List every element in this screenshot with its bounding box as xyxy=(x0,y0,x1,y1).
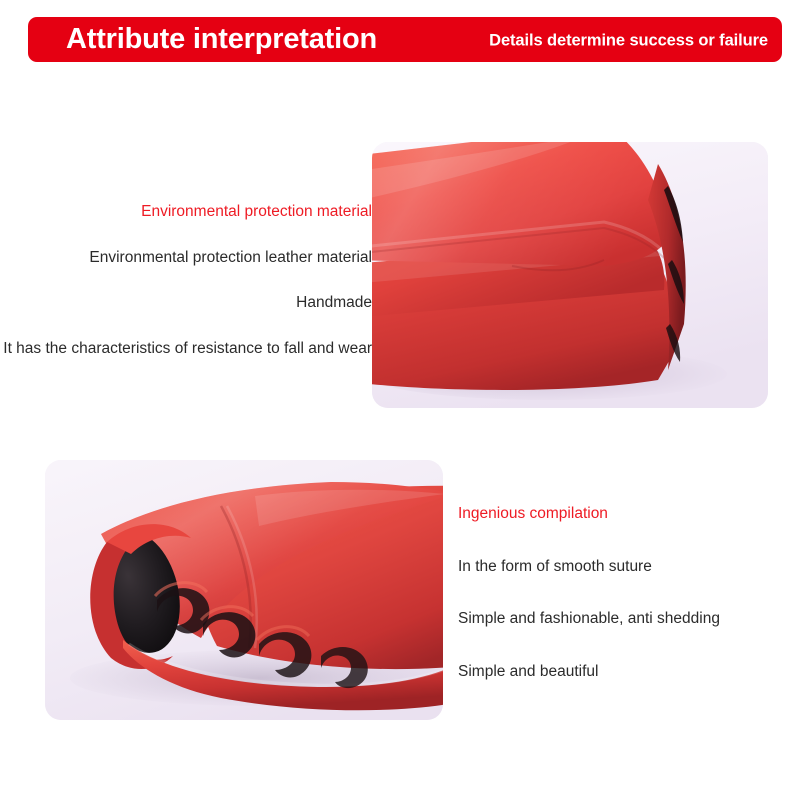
feature-line: It has the characteristics of resistance… xyxy=(0,341,372,357)
feature-heading: Environmental protection material xyxy=(0,204,372,220)
page-title: Attribute interpretation xyxy=(66,24,377,53)
red-leather-clutch-bag-illustration xyxy=(372,142,768,408)
header-banner: Attribute interpretation Details determi… xyxy=(28,17,782,62)
feature-line: Handmade xyxy=(0,295,372,311)
product-photo-red-leather-clutch-bag-woven-edge-detail xyxy=(45,460,443,720)
red-leather-bag-edge-detail-illustration xyxy=(45,460,443,720)
feature-line: Simple and beautiful xyxy=(458,664,788,680)
feature-line: In the form of smooth suture xyxy=(458,559,788,575)
feature-line: Simple and fashionable, anti shedding xyxy=(458,611,788,627)
feature-block-ingenious-compilation: Ingenious compilation In the form of smo… xyxy=(458,506,788,679)
feature-heading: Ingenious compilation xyxy=(458,506,788,522)
header-tagline: Details determine success or failure xyxy=(489,32,768,49)
feature-line: Environmental protection leather materia… xyxy=(0,250,372,266)
feature-block-environmental-protection-material: Environmental protection material Enviro… xyxy=(0,204,372,356)
product-photo-red-leather-clutch-bag-folded-flap xyxy=(372,142,768,408)
